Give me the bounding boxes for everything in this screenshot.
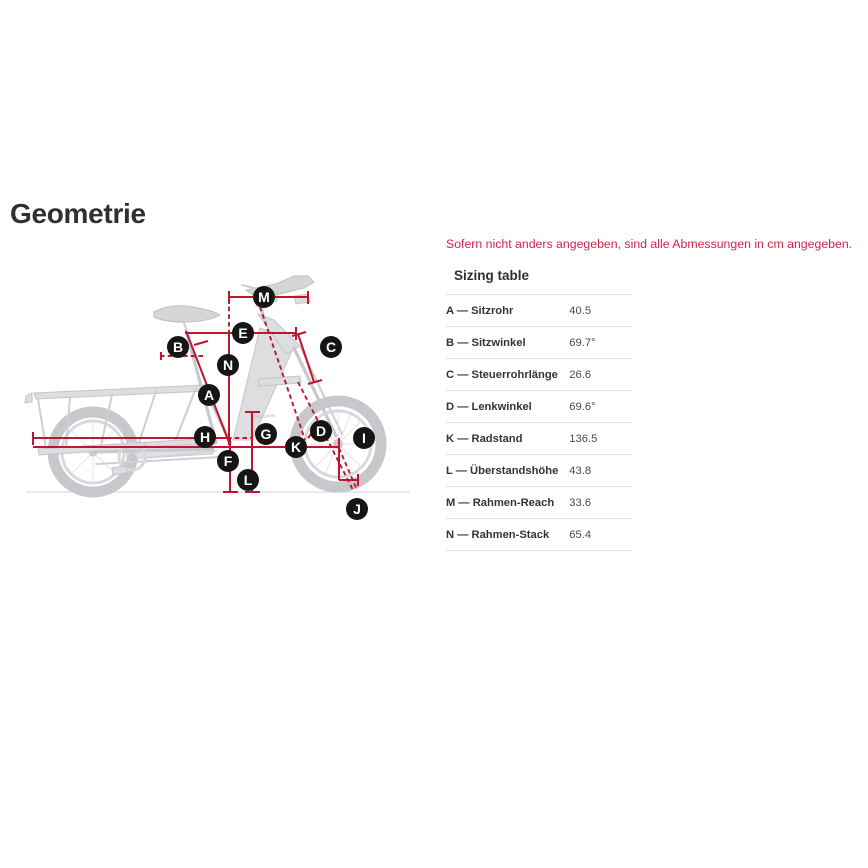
measurement-value: 26.6 (569, 359, 632, 391)
badge-letter: F (224, 453, 233, 469)
badge-letter: D (316, 423, 326, 439)
table-row: M — Rahmen-Reach33.6 (446, 487, 632, 519)
measurement-label: A — Sitzrohr (446, 295, 569, 327)
badge-f: F (217, 450, 239, 472)
page-title: Geometrie (10, 196, 146, 232)
badge-letter: J (353, 501, 361, 517)
badge-e: E (232, 322, 254, 344)
sizing-table-title: Sizing table (446, 268, 632, 294)
table-row: B — Sitzwinkel69.7° (446, 327, 632, 359)
badge-i: I (353, 427, 375, 449)
badge-b: B (167, 336, 189, 358)
table-row: A — Sitzrohr40.5 (446, 295, 632, 327)
badge-letter: I (362, 430, 366, 446)
measurement-value: 65.4 (569, 519, 632, 551)
badge-letter: L (244, 472, 253, 488)
cargo-rack-deck (34, 385, 207, 399)
badge-letter: N (223, 357, 233, 373)
measurement-label: D — Lenkwinkel (446, 391, 569, 423)
badge-c: C (320, 336, 342, 358)
sizing-table-grid: A — Sitzrohr40.5B — Sitzwinkel69.7°C — S… (446, 294, 632, 551)
badge-g: G (255, 423, 277, 445)
badge-m: M (253, 286, 275, 308)
table-row: N — Rahmen-Stack65.4 (446, 519, 632, 551)
badge-l: L (237, 469, 259, 491)
units-note: Sofern nicht anders angegeben, sind alle… (446, 236, 866, 252)
badge-letter: E (238, 325, 247, 341)
badge-j: J (346, 498, 368, 520)
badge-letter: H (200, 429, 210, 445)
handlebar (242, 276, 314, 308)
measurement-label: B — Sitzwinkel (446, 327, 569, 359)
measurement-value: 40.5 (569, 295, 632, 327)
badge-letter: B (173, 339, 183, 355)
badge-letter: G (261, 426, 272, 442)
table-row: D — Lenkwinkel69.6° (446, 391, 632, 423)
table-row: L — Überstandshöhe43.8 (446, 455, 632, 487)
geometry-page: Geometrie .fr { fill:#d4d6d8; stroke:#bc… (0, 0, 868, 868)
table-row: C — Steuerrohrlänge26.6 (446, 359, 632, 391)
measurement-label: N — Rahmen-Stack (446, 519, 569, 551)
sizing-table: Sizing table A — Sitzrohr40.5B — Sitzwin… (446, 268, 632, 551)
saddle (154, 306, 220, 322)
table-row: K — Radstand136.5 (446, 423, 632, 455)
measurement-label: L — Überstandshöhe (446, 455, 569, 487)
measurement-label: M — Rahmen-Reach (446, 487, 569, 519)
badge-letter: A (204, 387, 214, 403)
badge-k: K (285, 436, 307, 458)
badge-d: D (310, 420, 332, 442)
badge-letter: M (258, 289, 270, 305)
cargo-bike-geometry-diagram: .fr { fill:#d4d6d8; stroke:#bcbec1; stro… (8, 252, 428, 542)
badge-h: H (194, 426, 216, 448)
badge-a: A (198, 384, 220, 406)
measurement-value: 33.6 (569, 487, 632, 519)
measurement-value: 136.5 (569, 423, 632, 455)
measurement-value: 43.8 (569, 455, 632, 487)
measurement-label: K — Radstand (446, 423, 569, 455)
measurement-value: 69.6° (569, 391, 632, 423)
badge-letter: K (291, 439, 301, 455)
bike-silhouette (25, 276, 381, 492)
badge-n: N (217, 354, 239, 376)
measurement-label: C — Steuerrohrlänge (446, 359, 569, 391)
badge-letter: C (326, 339, 336, 355)
measurement-value: 69.7° (569, 327, 632, 359)
